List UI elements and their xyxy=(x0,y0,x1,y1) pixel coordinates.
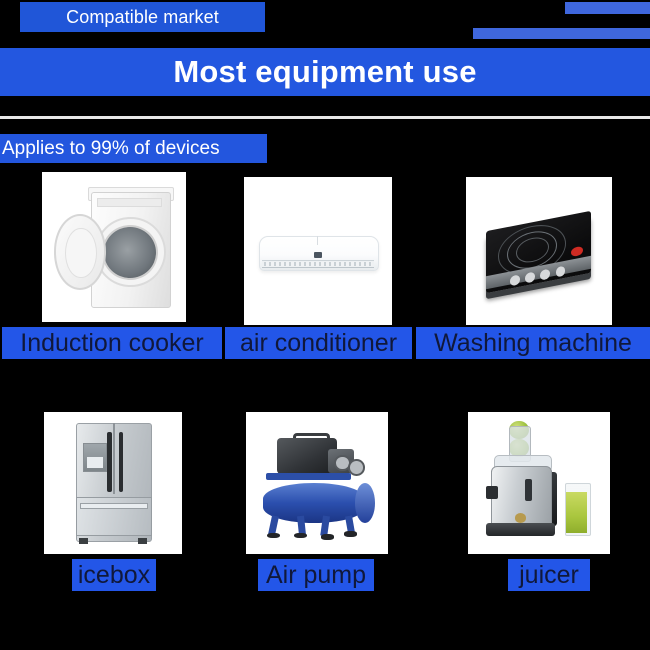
washing-machine-illustration xyxy=(42,172,186,322)
caption-washing-machine: Washing machine xyxy=(416,327,650,359)
compressor-foot xyxy=(267,533,280,539)
compressor-tank-cap xyxy=(355,483,375,523)
juicer-illustration xyxy=(468,412,610,554)
title-band: Most equipment use xyxy=(0,48,650,96)
fridge-foot-right xyxy=(138,538,148,544)
fridge-handle-left xyxy=(107,432,112,492)
juicer-brand-badge xyxy=(515,513,526,523)
induction-hob-photo xyxy=(466,177,612,325)
fridge-door-seam xyxy=(113,423,115,494)
juice-liquid xyxy=(566,492,587,533)
fridge-foot-left xyxy=(79,538,89,544)
decorative-bar-top xyxy=(565,2,650,14)
applies-to-devices-tag: Applies to 99% of devices xyxy=(0,134,267,163)
hob-knob xyxy=(540,269,550,281)
juicer-base xyxy=(486,523,554,536)
compressor-mount-frame xyxy=(266,473,351,480)
horizontal-divider xyxy=(0,116,650,119)
air-conditioner-photo xyxy=(244,177,392,325)
promo-banner: Compatible market Most equipment use App… xyxy=(0,0,650,650)
compressor-foot xyxy=(321,534,334,540)
decorative-bar-second xyxy=(473,28,650,39)
caption-air-conditioner: air conditioner xyxy=(225,327,412,359)
ac-air-vent xyxy=(262,260,374,268)
page-title: Most equipment use xyxy=(0,48,650,96)
compressor-foot xyxy=(294,533,307,539)
fridge-water-dispenser xyxy=(83,443,107,472)
caption-juicer: juicer xyxy=(508,559,590,591)
caption-induction-cooker: Induction cooker xyxy=(2,327,222,359)
induction-hob-illustration xyxy=(466,177,612,325)
washer-open-door xyxy=(54,214,107,290)
hob-knob xyxy=(525,272,535,284)
washer-drum xyxy=(102,225,158,280)
ac-center-seam xyxy=(317,236,318,245)
compressor-foot xyxy=(344,531,357,537)
caption-air-pump: Air pump xyxy=(258,559,374,591)
refrigerator-illustration xyxy=(44,412,182,554)
juicer-switch xyxy=(525,479,532,502)
compatible-market-tag: Compatible market xyxy=(20,2,265,32)
hob-knob xyxy=(510,274,520,286)
caption-icebox: icebox xyxy=(72,559,156,591)
washer-control-panel xyxy=(97,198,162,208)
air-conditioner-illustration xyxy=(244,177,392,325)
fridge-drawer-handle xyxy=(80,503,148,509)
juicer-spout xyxy=(486,486,497,499)
air-compressor-illustration xyxy=(246,412,388,554)
hob-knob xyxy=(555,266,565,278)
fridge-handle-right xyxy=(119,432,124,492)
air-compressor-photo xyxy=(246,412,388,554)
juicer-photo xyxy=(468,412,610,554)
washing-machine-photo xyxy=(42,172,186,322)
ac-display-icon xyxy=(314,252,323,257)
refrigerator-photo xyxy=(44,412,182,554)
